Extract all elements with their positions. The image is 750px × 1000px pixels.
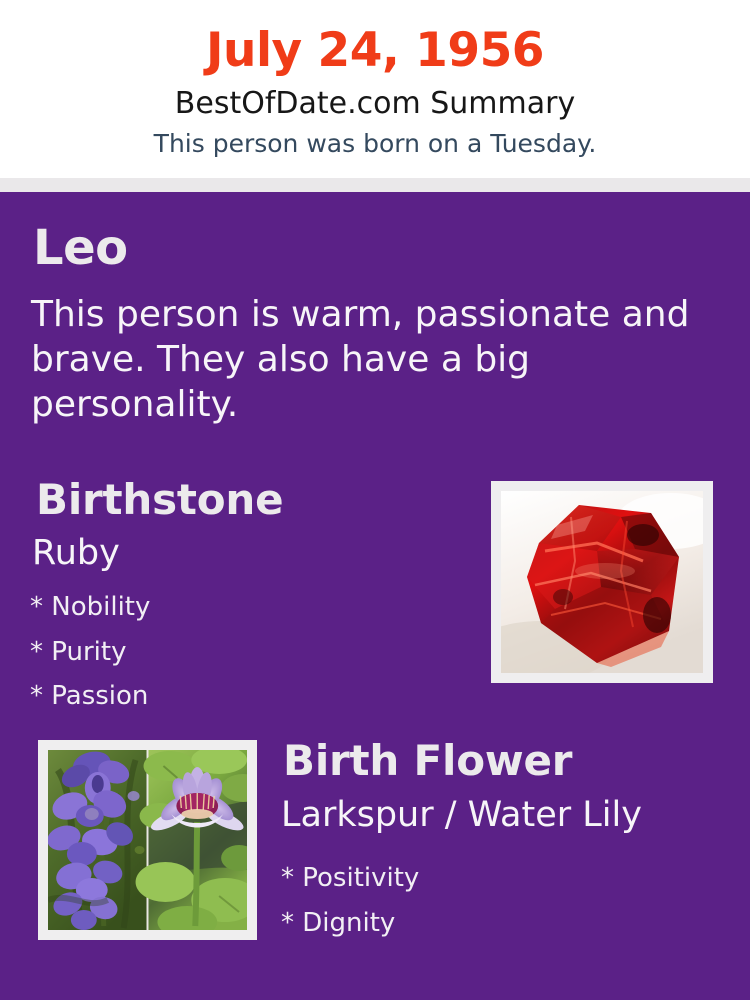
birth-flower-heading: Birth Flower [283,738,572,784]
list-item: * Dignity [281,901,711,946]
site-summary-label: BestOfDate.com Summary [0,87,750,122]
list-item: * Passion [30,674,450,719]
list-item: * Positivity [281,856,711,901]
birthstone-heading: Birthstone [36,477,283,523]
birthstone-image-frame [491,481,713,683]
list-item: * Purity [30,630,450,675]
list-item: * Nobility [30,585,450,630]
ruby-crystal-icon [501,491,703,673]
zodiac-description: This person is warm, passionate and brav… [31,292,691,427]
birthstone-name: Ruby [32,534,120,573]
header-divider [0,178,750,192]
larkspur-water-lily-icon [48,750,247,930]
page-title-date: July 24, 1956 [0,24,750,78]
birthstone-traits-list: * Nobility * Purity * Passion [30,585,450,719]
birth-flower-traits-list: * Positivity * Dignity [281,856,711,945]
zodiac-sign-heading: Leo [33,222,128,275]
birth-flower-image [48,750,247,930]
birthstone-image [501,491,703,673]
weekday-note: This person was born on a Tuesday. [0,130,750,159]
header: July 24, 1956 BestOfDate.com Summary Thi… [0,0,750,178]
summary-card: July 24, 1956 BestOfDate.com Summary Thi… [0,0,750,1000]
larkspur-half [48,750,148,930]
birth-flower-image-frame [38,740,257,940]
birth-flower-name: Larkspur / Water Lily [281,796,642,835]
water-lily-half [136,750,247,930]
